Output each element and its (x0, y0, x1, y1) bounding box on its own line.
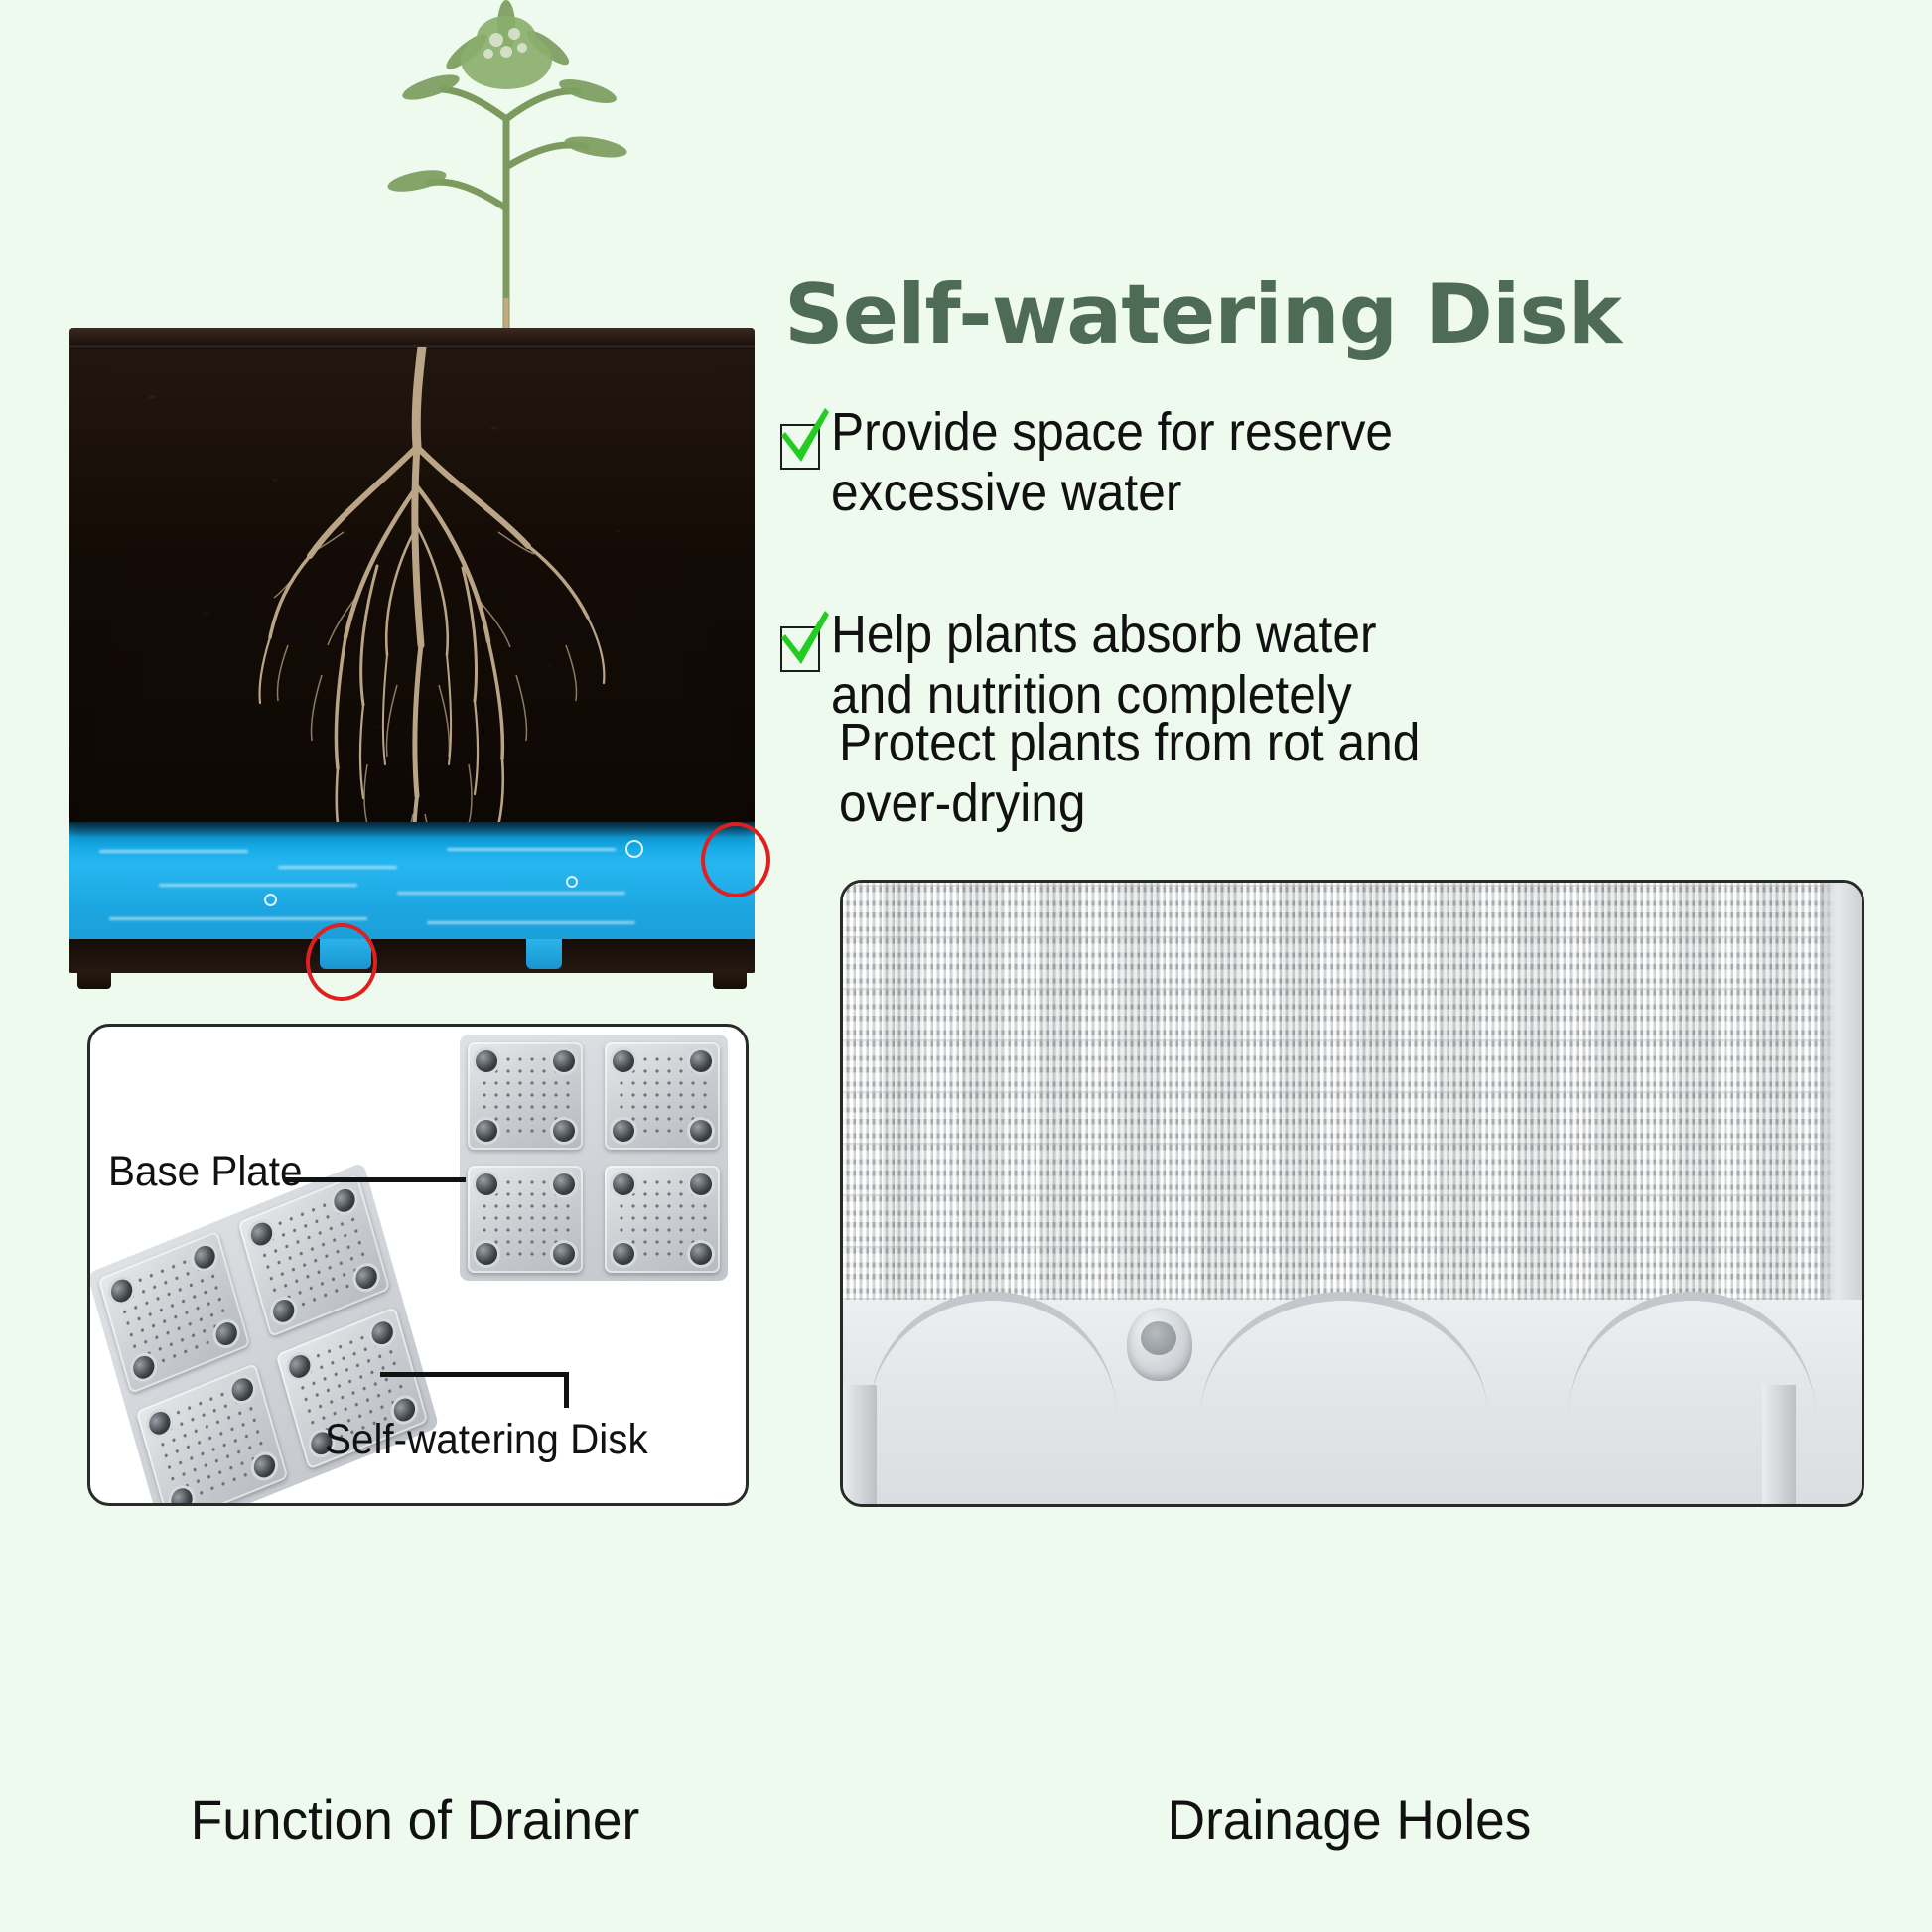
supporting-paragraph: Protect plants from rot and over-drying (839, 713, 1853, 834)
arch-cutout-middle (1200, 1292, 1488, 1418)
pot-foot-left (77, 969, 111, 989)
planter-base-panel (843, 1300, 1862, 1504)
arch-cutout-left (869, 1292, 1117, 1418)
pot-foot-right (713, 969, 747, 989)
list-item: Provide space for reserve excessive wate… (777, 402, 1929, 523)
left-panel-caption: Function of Drainer (104, 1787, 727, 1852)
highlight-circle-bottom (306, 923, 377, 1001)
feature-list: Provide space for reserve excessive wate… (777, 402, 1929, 763)
planter-cutaway-photo (69, 328, 755, 973)
panel-leg-left (843, 1385, 877, 1504)
self-watering-disk-leader-vertical (564, 1372, 569, 1408)
rattan-weave-texture (843, 883, 1862, 1300)
panel-leg-right (1762, 1385, 1796, 1504)
right-panel-caption: Drainage Holes (866, 1787, 1834, 1852)
self-watering-disk-leader-horizontal (380, 1372, 569, 1377)
pot-bottom-rim (69, 939, 755, 973)
soil-texture (69, 345, 755, 862)
pot-body (69, 328, 755, 973)
pot-rim (69, 328, 755, 349)
base-plate-diagram (460, 1035, 728, 1281)
self-watering-disk-label: Self-watering Disk (325, 1416, 648, 1464)
list-item-label: Help plants absorb water and nutrition c… (831, 605, 1377, 726)
list-item: Help plants absorb water and nutrition c… (777, 605, 1929, 726)
infographic-stage: Self-watering Disk Provide space for res… (0, 0, 1932, 1932)
drainage-hole-plug (1127, 1308, 1192, 1381)
highlight-circle-right (701, 822, 770, 897)
base-plate-leader-line (285, 1177, 466, 1182)
plant-illustration (357, 0, 655, 338)
page-title: Self-watering Disk (784, 273, 1906, 355)
drainage-holes-card (840, 880, 1864, 1507)
checkbox-checked-icon (777, 621, 821, 664)
list-item-label: Provide space for reserve excessive wate… (831, 402, 1393, 523)
function-of-drainer-card: Base Plate Self-watering Disk (87, 1024, 749, 1506)
base-plate-label: Base Plate (108, 1148, 302, 1196)
checkbox-checked-icon (777, 418, 821, 462)
